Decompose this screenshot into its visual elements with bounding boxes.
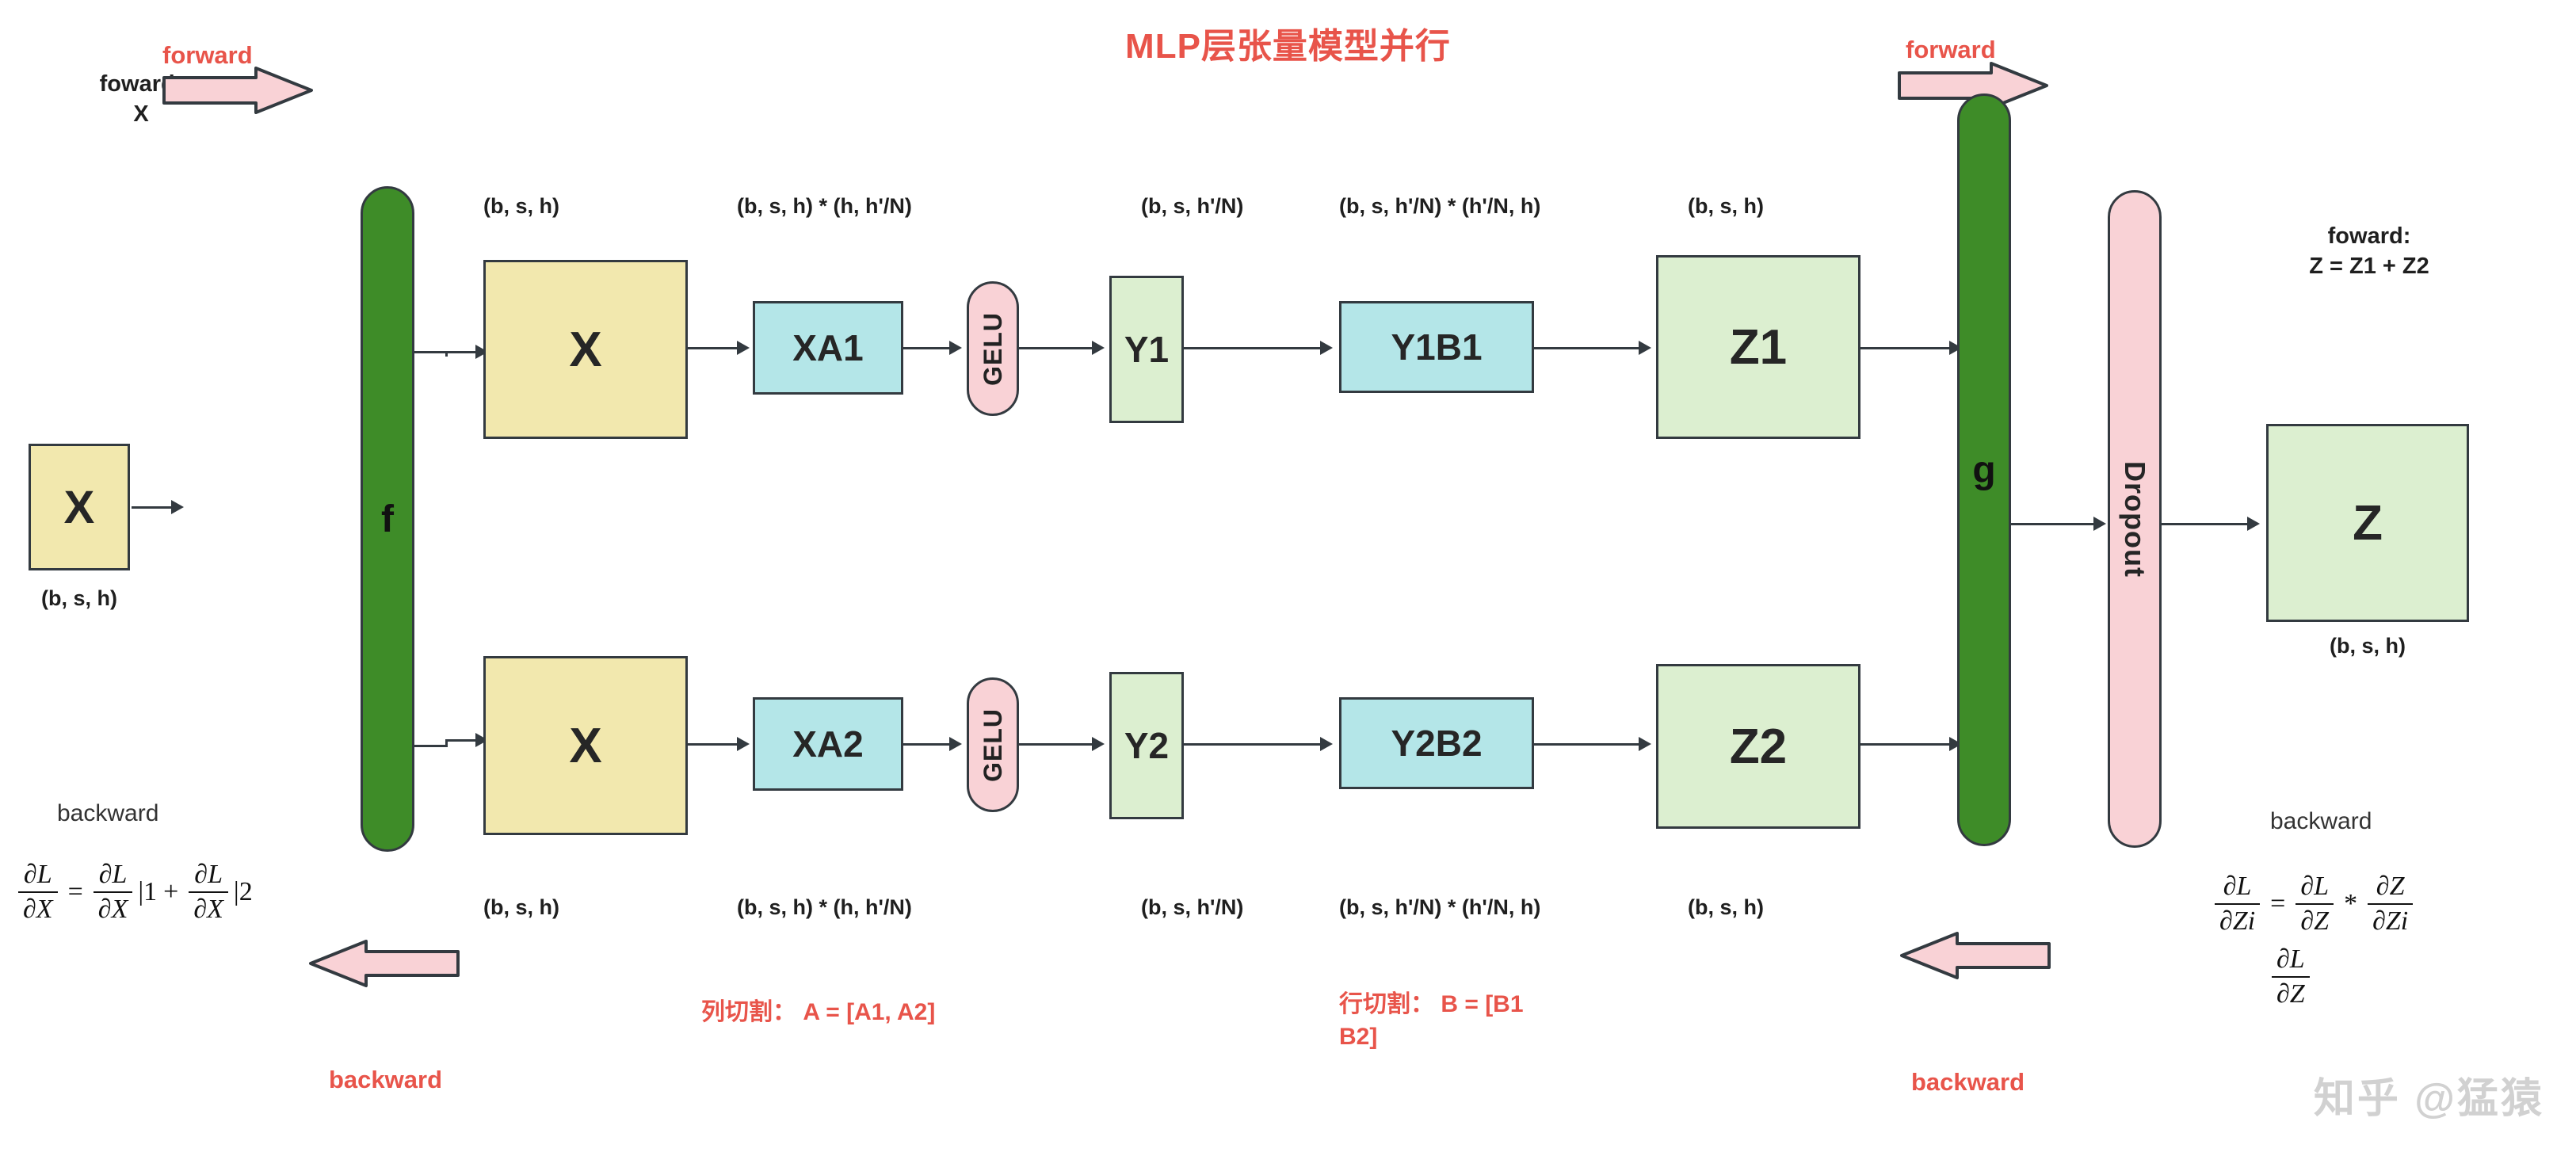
bot-xa-box: XA2 bbox=[753, 697, 903, 791]
backward-block-arrow-right bbox=[1900, 931, 2051, 980]
conn-top-gelu-y bbox=[1019, 347, 1095, 349]
bot-gelu-label: GELU bbox=[979, 708, 1008, 782]
rbf-t1-num: ∂L bbox=[2296, 872, 2334, 903]
right-backward-label: backward bbox=[2270, 808, 2372, 835]
conn-top-z-g bbox=[1860, 347, 1957, 349]
right-backward-arrow-label: backward bbox=[1911, 1068, 2025, 1097]
arrowhead-top-gelu-y bbox=[1092, 341, 1105, 355]
row-split-note: 行切割： B = [B1 B2] bbox=[1339, 989, 1524, 1053]
lbf-t2-suffix: |2 bbox=[234, 877, 253, 907]
conn-bot-x-xa bbox=[688, 743, 740, 746]
rbf2-den: ∂Z bbox=[2272, 976, 2310, 1009]
arrowhead-x-to-f bbox=[171, 500, 184, 514]
conn-bot-yb-z bbox=[1534, 743, 1642, 746]
conn-bot-gelu-y bbox=[1019, 743, 1095, 746]
conn-dropout-z bbox=[2162, 523, 2250, 525]
dim-bot-5: (b, s, h) bbox=[1688, 895, 1764, 920]
left-backward-formula: ∂L ∂X = ∂L ∂X |1 + ∂L ∂X |2 bbox=[14, 860, 253, 925]
output-z-box: Z bbox=[2266, 424, 2469, 622]
input-x-box: X bbox=[29, 444, 130, 570]
watermark: 知乎 @猛猿 bbox=[2314, 1065, 2544, 1124]
arrowhead-top-xa-gelu bbox=[949, 341, 962, 355]
rbf-times: * bbox=[2344, 889, 2357, 919]
top-z-box: Z1 bbox=[1656, 255, 1860, 439]
bot-z-box: Z2 bbox=[1656, 664, 1860, 829]
input-x-dim: (b, s, h) bbox=[29, 586, 130, 611]
f-branch-top-h bbox=[414, 351, 448, 353]
conn-top-x-xa bbox=[688, 347, 740, 349]
conn-top-y-yb bbox=[1184, 347, 1323, 349]
arrowhead-bot-yb-z bbox=[1639, 737, 1651, 751]
rbf-lhs-den: ∂Zi bbox=[2215, 903, 2260, 937]
dropout-pill: Dropout bbox=[2108, 190, 2162, 848]
lbf-eq: = bbox=[68, 877, 83, 907]
lbf-t1-den: ∂X bbox=[93, 891, 133, 925]
page-title: MLP层张量模型并行 bbox=[0, 17, 2576, 68]
conn-bot-z-g bbox=[1860, 743, 1957, 746]
bot-x-box: X bbox=[483, 656, 688, 835]
top-xa-box: XA1 bbox=[753, 301, 903, 395]
top-x-box: X bbox=[483, 260, 688, 439]
dim-bot-1: (b, s, h) bbox=[483, 895, 559, 920]
conn-top-xa-gelu bbox=[903, 347, 952, 349]
output-z-dim: (b, s, h) bbox=[2266, 634, 2469, 658]
arrowhead-top-y-yb bbox=[1320, 341, 1333, 355]
conn-g-dropout bbox=[2011, 523, 2097, 525]
f-bar-label: f bbox=[381, 498, 394, 541]
top-gelu-pill: GELU bbox=[967, 281, 1019, 416]
arrowhead-g-dropout bbox=[2093, 517, 2106, 531]
right-forward-arrow-label: forward bbox=[1906, 36, 1996, 64]
right-forward-note: foward: Z = Z1 + Z2 bbox=[2211, 222, 2528, 281]
dim-top-2: (b, s, h) * (h, h'/N) bbox=[737, 194, 912, 219]
f-branch-top-h2 bbox=[445, 351, 477, 353]
lbf-t1-suffix: |1 bbox=[138, 877, 157, 907]
left-forward-arrow-label: forward bbox=[162, 41, 253, 70]
arrowhead-top-yb-z bbox=[1639, 341, 1651, 355]
top-y-box: Y1 bbox=[1109, 276, 1184, 423]
bot-y-box: Y2 bbox=[1109, 672, 1184, 819]
lbf-plus: + bbox=[163, 877, 178, 907]
g-bar: g bbox=[1957, 93, 2011, 846]
dropout-label: Dropout bbox=[2118, 461, 2151, 578]
rbf-t2-den: ∂Zi bbox=[2368, 903, 2413, 937]
arrowhead-dropout-z bbox=[2247, 517, 2260, 531]
rbf-t1-den: ∂Z bbox=[2296, 903, 2334, 937]
lbf-t1-num: ∂L bbox=[94, 860, 132, 891]
top-yb-box: Y1B1 bbox=[1339, 301, 1534, 393]
dim-top-1: (b, s, h) bbox=[483, 194, 559, 219]
left-backward-arrow-label: backward bbox=[329, 1066, 442, 1094]
arrowhead-top-x-xa bbox=[737, 341, 750, 355]
g-bar-label: g bbox=[1972, 448, 1995, 492]
lbf-t2-num: ∂L bbox=[189, 860, 227, 891]
conn-top-yb-z bbox=[1534, 347, 1642, 349]
lbf-t2-den: ∂X bbox=[189, 891, 228, 925]
arrowhead-bot-xa-gelu bbox=[949, 737, 962, 751]
dim-top-3: (b, s, h'/N) bbox=[1141, 194, 1243, 219]
dim-top-5: (b, s, h) bbox=[1688, 194, 1764, 219]
column-split-note: 列切割： A = [A1, A2] bbox=[701, 997, 935, 1029]
dim-top-4: (b, s, h'/N) * (h'/N, h) bbox=[1339, 194, 1540, 219]
bot-gelu-pill: GELU bbox=[967, 677, 1019, 812]
forward-block-arrow-left bbox=[162, 67, 313, 114]
rbf-eq: = bbox=[2270, 889, 2285, 919]
f-bar: f bbox=[361, 186, 414, 852]
rbf2-num: ∂L bbox=[2272, 944, 2310, 976]
arrowhead-bot-gelu-y bbox=[1092, 737, 1105, 751]
dim-bot-4: (b, s, h'/N) * (h'/N, h) bbox=[1339, 895, 1540, 920]
right-backward-formula: ∂L ∂Zi = ∂L ∂Z * ∂Z ∂Zi bbox=[2211, 872, 2417, 937]
rbf-lhs-num: ∂L bbox=[2219, 872, 2257, 903]
conn-bot-y-yb bbox=[1184, 743, 1323, 746]
backward-block-arrow-left bbox=[309, 939, 460, 988]
lbf-lhs-num: ∂L bbox=[19, 860, 57, 891]
conn-bot-xa-gelu bbox=[903, 743, 952, 746]
bot-yb-box: Y2B2 bbox=[1339, 697, 1534, 789]
arrowhead-bot-y-yb bbox=[1320, 737, 1333, 751]
dim-bot-2: (b, s, h) * (h, h'/N) bbox=[737, 895, 912, 920]
arrowhead-bot-x-xa bbox=[737, 737, 750, 751]
connector-x-to-f bbox=[132, 506, 173, 509]
right-backward-formula-line2: ∂L ∂Z bbox=[2268, 944, 2314, 1009]
lbf-lhs-den: ∂X bbox=[18, 891, 58, 925]
top-gelu-label: GELU bbox=[979, 312, 1008, 386]
left-backward-label: backward bbox=[57, 800, 158, 827]
rbf-t2-num: ∂Z bbox=[2372, 872, 2410, 903]
f-branch-bot-h bbox=[414, 745, 448, 747]
dim-bot-3: (b, s, h'/N) bbox=[1141, 895, 1243, 920]
f-branch-bot-h2 bbox=[445, 739, 477, 742]
